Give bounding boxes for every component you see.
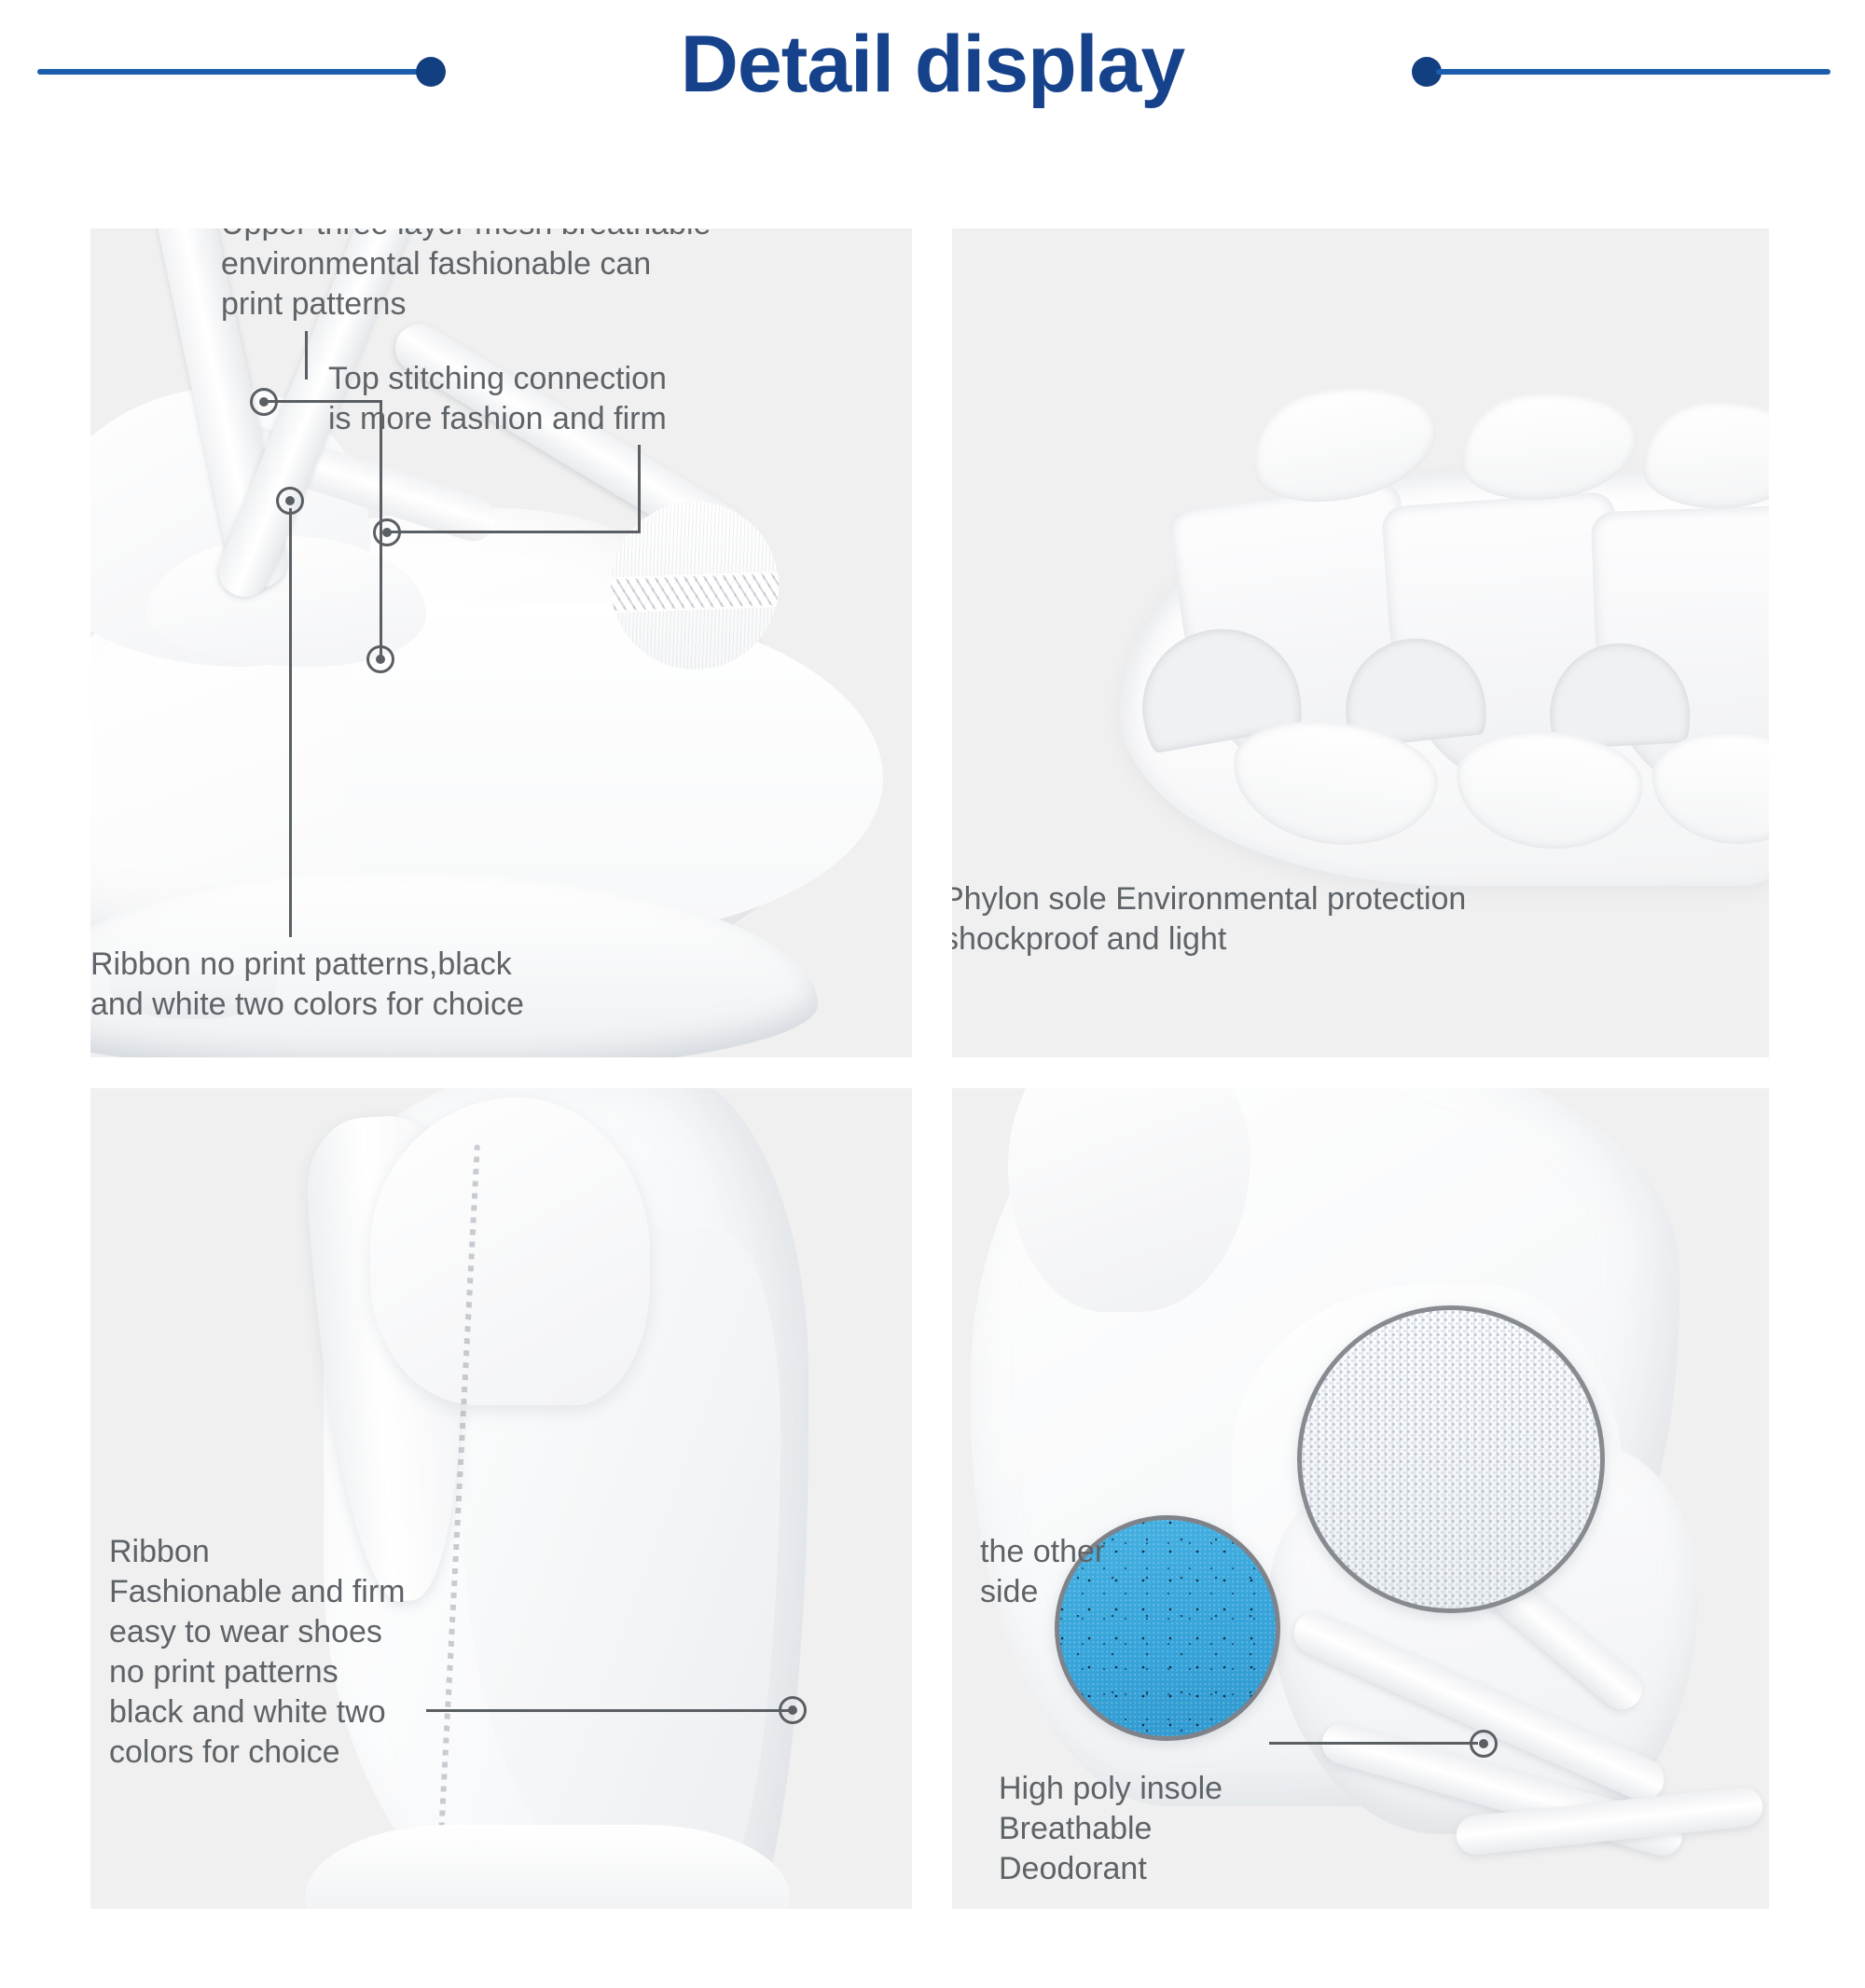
annotation-ribbon-detail: Ribbon Fashionable and firm easy to wear… bbox=[109, 1532, 510, 1773]
annotation-other-side: the other side bbox=[980, 1532, 1213, 1612]
leader-line-insole-h bbox=[1269, 1742, 1478, 1745]
annotation-high-poly-insole: High poly insole Breathable Deodorant bbox=[999, 1769, 1372, 1889]
heel-collar-photo bbox=[90, 1088, 912, 1909]
heel-base bbox=[305, 1825, 790, 1909]
annotation-upper-mesh: Upper three layer mesh breathable enviro… bbox=[221, 228, 836, 324]
panel-insole: the other side High poly insole Breathab… bbox=[952, 1088, 1769, 1909]
shoe-upper-photo bbox=[90, 228, 912, 1057]
leader-line-stitch-v bbox=[638, 445, 641, 533]
header-rule-right bbox=[1436, 69, 1830, 75]
callout-marker-upper-lower[interactable] bbox=[366, 645, 394, 673]
leader-line-top-tick bbox=[305, 331, 308, 380]
panel-upper-mesh: Upper three layer mesh breathable enviro… bbox=[90, 228, 912, 1057]
callout-marker-ribbon-detail[interactable] bbox=[779, 1696, 807, 1724]
page-header: Detail display bbox=[0, 0, 1865, 149]
stitching-closeup-circle bbox=[611, 502, 779, 670]
mesh-lining-closeup-circle bbox=[1297, 1305, 1605, 1613]
callout-marker-ribbon[interactable] bbox=[276, 487, 304, 515]
annotation-phylon-sole: Phylon sole Environmental protection sho… bbox=[952, 879, 1651, 959]
heel-pull-tab bbox=[370, 1098, 650, 1405]
annotation-top-stitching: Top stitching connection is more fashion… bbox=[328, 359, 757, 439]
panel-ribbon-heel: Ribbon Fashionable and firm easy to wear… bbox=[90, 1088, 912, 1909]
stitch-band bbox=[611, 572, 779, 614]
page-title: Detail display bbox=[0, 13, 1865, 116]
leader-line-stitch-h bbox=[387, 531, 641, 533]
callout-marker-upper-mesh[interactable] bbox=[250, 388, 278, 416]
annotation-ribbon: Ribbon no print patterns,black and white… bbox=[90, 945, 650, 1025]
detail-panel-grid: Upper three layer mesh breathable enviro… bbox=[90, 228, 1769, 1909]
callout-marker-insole[interactable] bbox=[1470, 1730, 1498, 1758]
panel-outsole: Phylon sole Environmental protection sho… bbox=[952, 228, 1769, 1057]
callout-marker-top-stitch[interactable] bbox=[373, 518, 401, 546]
leader-line-ribbon-v bbox=[289, 508, 292, 937]
